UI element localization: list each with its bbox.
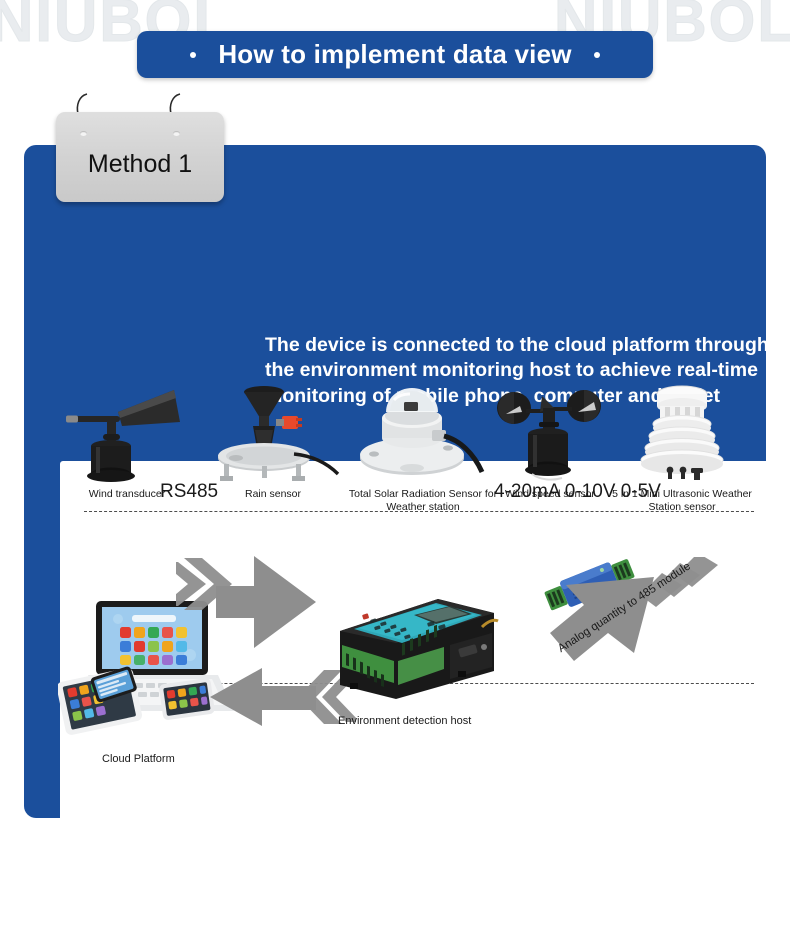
solar-radiation-sensor-icon xyxy=(348,378,498,486)
method-tag-label: Method 1 xyxy=(88,150,192,179)
wind-transducer-icon xyxy=(52,378,202,486)
environment-detection-host-icon xyxy=(332,587,500,710)
page-title: How to implement data view xyxy=(218,39,571,70)
rain-sensor-icon xyxy=(198,378,348,486)
host-caption: Environment detection host xyxy=(338,715,471,727)
ultrasonic-weather-station-icon xyxy=(612,378,752,486)
sensor-caption: Wind transducer xyxy=(47,488,207,501)
cloud-platform-caption: Cloud Platform xyxy=(102,753,175,765)
sensor-item-wind-transducer: Wind transducer xyxy=(52,378,202,486)
bullet-dot-icon-right xyxy=(594,52,600,58)
sensor-caption: 5 in 1 Mini Ultrasonic Weather Station s… xyxy=(602,488,762,514)
sensor-item-ultrasonic-station: 5 in 1 Mini Ultrasonic Weather Station s… xyxy=(612,378,752,486)
arrow-analog-to-host-icon xyxy=(534,557,724,682)
bullet-dot-icon-left xyxy=(190,52,196,58)
sensor-item-wind-speed: Wind speed sensor xyxy=(486,378,614,486)
binder-hole-right xyxy=(173,131,180,136)
method-tag: Method 1 xyxy=(56,112,224,202)
system-diagram: Analog quantity to 485 module Environmen… xyxy=(36,545,754,805)
sensor-item-solar-radiation: Total Solar Radiation Sensor for Weather… xyxy=(348,378,498,486)
sensor-item-rain-sensor: Rain sensor xyxy=(198,378,348,486)
page-title-bar: How to implement data view xyxy=(137,31,653,78)
sensor-caption: Rain sensor xyxy=(193,488,353,501)
binder-hole-left xyxy=(80,131,87,136)
wind-speed-sensor-icon xyxy=(486,378,614,486)
